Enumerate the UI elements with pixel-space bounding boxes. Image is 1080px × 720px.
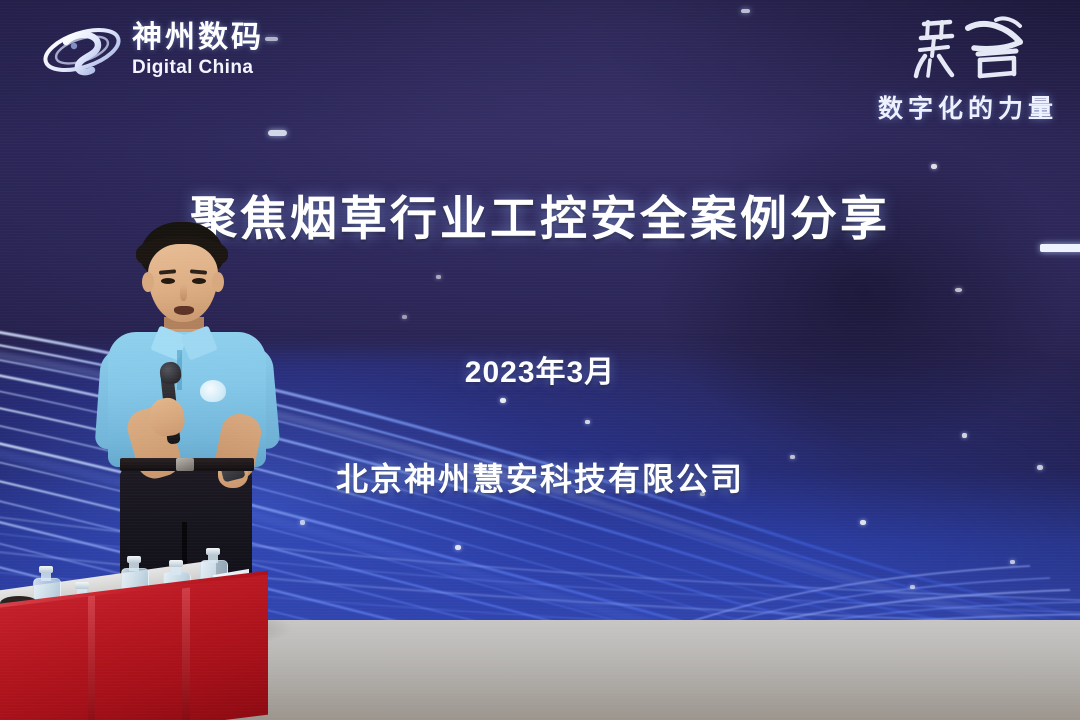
speaker-ear-right (212, 272, 224, 292)
digital-china-swirl-logo-icon (40, 18, 124, 82)
particle-dash (265, 37, 278, 41)
speaker-belt-buckle (176, 458, 194, 471)
juhe-calligraphy-icon (908, 14, 1058, 88)
particle-dot (455, 545, 461, 550)
bottle-cap (206, 548, 220, 555)
bottle-cap (75, 582, 89, 589)
table-cloth-fold (88, 596, 95, 720)
table-cloth-fold (182, 588, 190, 720)
digital-china-english: Digital China (132, 58, 264, 77)
presentation-photo: 神州数码 Digital China (0, 0, 1080, 720)
juhe-tagline: 数字化的力量 (878, 89, 1058, 125)
particle-dot (300, 520, 305, 525)
speaker-eye-left (161, 278, 175, 284)
particle-dot (955, 288, 962, 292)
juhe-logo: 数字化的力量 (878, 14, 1058, 125)
digital-china-chinese: 神州数码 (132, 23, 264, 53)
bottle-cap (169, 560, 183, 567)
speaker-mouth (174, 306, 194, 315)
particle-dot (436, 275, 441, 279)
microphone-head-icon (159, 361, 182, 385)
digital-china-wordmark: 神州数码 Digital China (132, 23, 264, 77)
speaker-ear-left (142, 272, 154, 292)
particle-dot (402, 315, 407, 319)
digital-china-logo: 神州数码 Digital China (40, 18, 264, 82)
particle-dot (1010, 560, 1015, 564)
decorative-dash (1040, 244, 1080, 252)
particle-dot (585, 420, 590, 424)
particle-dot (962, 433, 967, 438)
particle-dot (860, 520, 866, 525)
bottle-cap (39, 566, 53, 573)
particle-dot (910, 585, 915, 589)
speaker-eye-right (192, 278, 206, 284)
speaker-shirt-logo (200, 380, 226, 402)
particle-dot (931, 164, 937, 169)
particle-dash (268, 130, 287, 136)
bottle-cap (127, 556, 141, 563)
particle-dot (500, 398, 506, 403)
speaker-nose (180, 284, 187, 301)
particle-dash (741, 9, 750, 13)
